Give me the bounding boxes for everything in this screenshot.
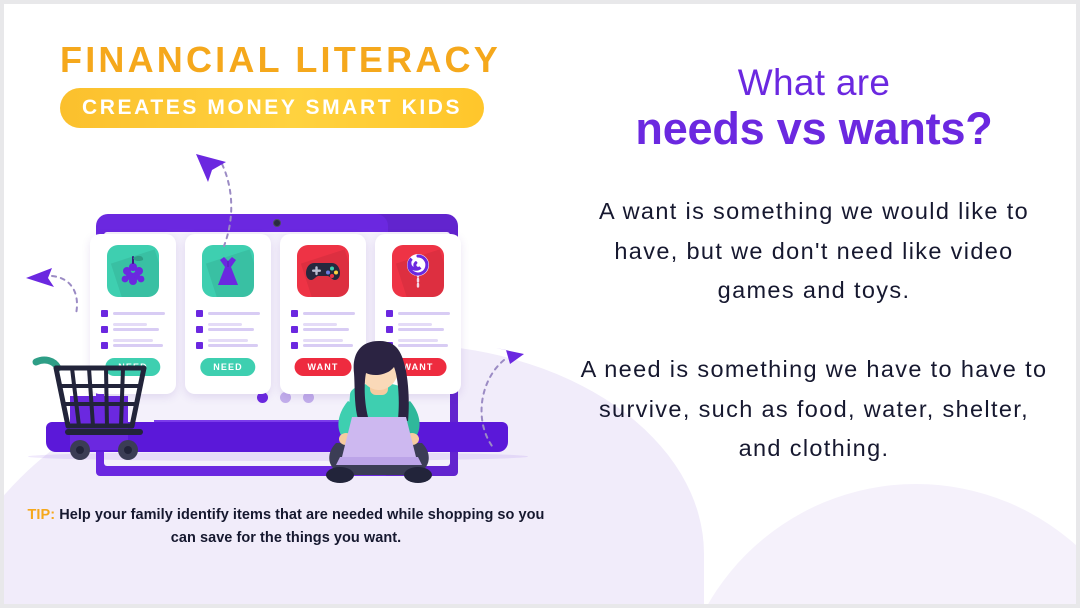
- slide-canvas: FINANCIAL LITERACY CREATES MONEY SMART K…: [0, 0, 1080, 608]
- page-title: FINANCIAL LITERACY: [60, 42, 501, 78]
- bullet-icon: [291, 326, 298, 333]
- paragraph-needs: A need is something we have to have to s…: [580, 350, 1048, 468]
- bullet-icon: [101, 310, 108, 317]
- bullet-icon: [196, 310, 203, 317]
- arrow-top-icon: [182, 142, 252, 257]
- title-block: FINANCIAL LITERACY CREATES MONEY SMART K…: [60, 42, 501, 128]
- bullet-icon: [196, 326, 203, 333]
- content-column: What are needs vs wants? A want is somet…: [580, 62, 1048, 469]
- arrow-left-icon: [18, 256, 88, 351]
- bullet-icon: [291, 310, 298, 317]
- person-with-laptop-icon: [314, 339, 444, 494]
- grapes-icon: [107, 245, 159, 297]
- lollipop-icon: [392, 245, 444, 297]
- subtitle-text: CREATES MONEY SMART KIDS: [82, 97, 462, 118]
- card-lines: [196, 310, 260, 355]
- gamepad-icon: [297, 245, 349, 297]
- background-curve-right: [676, 484, 1080, 608]
- bullet-icon: [386, 326, 393, 333]
- bullet-icon: [291, 342, 298, 349]
- heading-line-2: needs vs wants?: [580, 105, 1048, 154]
- arrow-right-icon: [466, 334, 546, 469]
- paragraph-wants: A want is something we would like to hav…: [580, 192, 1048, 310]
- illustration: NEED NEED: [4, 134, 564, 494]
- tip-text: Help your family identify items that are…: [59, 507, 544, 546]
- tip-block: TIP: Help your family identify items tha…: [26, 504, 546, 551]
- bullet-icon: [386, 310, 393, 317]
- status-badge: NEED: [200, 358, 255, 376]
- card-lines: [101, 310, 165, 355]
- tip-label: TIP:: [28, 507, 56, 523]
- bullet-icon: [101, 326, 108, 333]
- subtitle-badge: CREATES MONEY SMART KIDS: [60, 88, 484, 128]
- camera-dot-icon: [273, 219, 281, 227]
- list-item[interactable]: NEED: [185, 234, 271, 394]
- heading-line-1: What are: [580, 62, 1048, 103]
- shopping-cart-icon: [22, 352, 162, 477]
- bullet-icon: [196, 342, 203, 349]
- bullet-icon: [101, 342, 108, 349]
